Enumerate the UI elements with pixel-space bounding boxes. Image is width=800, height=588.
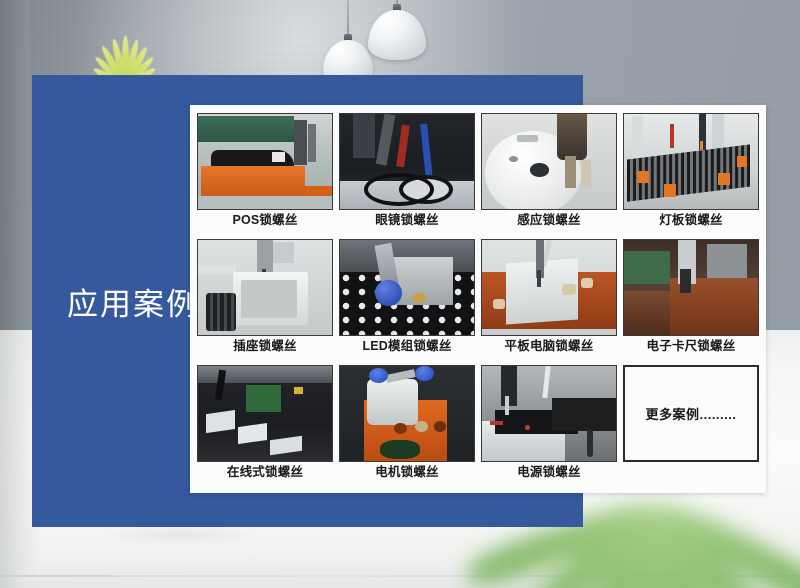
case-caliper[interactable]: 电子卡尺锁螺丝 — [623, 239, 759, 363]
case-lightboard[interactable]: 灯板锁螺丝 — [623, 113, 759, 237]
case-label: 平板电脑锁螺丝 — [505, 339, 594, 353]
case-label: 电源锁螺丝 — [517, 465, 581, 479]
case-thumbnail[interactable] — [197, 113, 333, 210]
cases-grid: POS锁螺丝 眼镜锁螺丝 — [197, 113, 759, 489]
plant-decoration — [60, 22, 190, 82]
more-cases-label: 更多案例......... — [645, 404, 736, 423]
case-more[interactable]: 更多案例......... — [623, 365, 759, 489]
case-sensor[interactable]: 感应锁螺丝 — [481, 113, 617, 237]
case-led-module[interactable]: LED模组锁螺丝 — [339, 239, 475, 363]
case-tablet[interactable]: 平板电脑锁螺丝 — [481, 239, 617, 363]
case-power[interactable]: 电源锁螺丝 — [481, 365, 617, 489]
case-label: 灯板锁螺丝 — [659, 213, 723, 227]
case-inline[interactable]: 在线式锁螺丝 — [197, 365, 333, 489]
more-cases-box[interactable]: 更多案例......... — [623, 365, 759, 462]
case-label: 插座锁螺丝 — [233, 339, 297, 353]
case-thumbnail[interactable] — [339, 113, 475, 210]
case-label: 感应锁螺丝 — [517, 213, 581, 227]
cases-card: POS锁螺丝 眼镜锁螺丝 — [190, 105, 766, 493]
case-label: 在线式锁螺丝 — [227, 465, 303, 479]
case-thumbnail[interactable] — [623, 113, 759, 210]
case-pos[interactable]: POS锁螺丝 — [197, 113, 333, 237]
case-thumbnail[interactable] — [623, 239, 759, 336]
case-thumbnail[interactable] — [481, 239, 617, 336]
case-glasses[interactable]: 眼镜锁螺丝 — [339, 113, 475, 237]
case-label: 电机锁螺丝 — [375, 465, 439, 479]
pendant-lamp-left — [323, 0, 373, 70]
case-label: POS锁螺丝 — [232, 213, 297, 227]
case-thumbnail[interactable] — [481, 113, 617, 210]
case-motor[interactable]: 电机锁螺丝 — [339, 365, 475, 489]
case-thumbnail[interactable] — [197, 239, 333, 336]
case-label: LED模组锁螺丝 — [362, 339, 451, 353]
pendant-lamp-right — [368, 0, 426, 56]
case-thumbnail[interactable] — [339, 239, 475, 336]
case-thumbnail[interactable] — [339, 365, 475, 462]
slide-root: 应用案例 POS锁螺丝 — [0, 0, 800, 588]
case-socket[interactable]: 插座锁螺丝 — [197, 239, 333, 363]
case-thumbnail[interactable] — [197, 365, 333, 462]
case-label: 眼镜锁螺丝 — [375, 213, 439, 227]
case-label: 电子卡尺锁螺丝 — [647, 339, 736, 353]
case-thumbnail[interactable] — [481, 365, 617, 462]
